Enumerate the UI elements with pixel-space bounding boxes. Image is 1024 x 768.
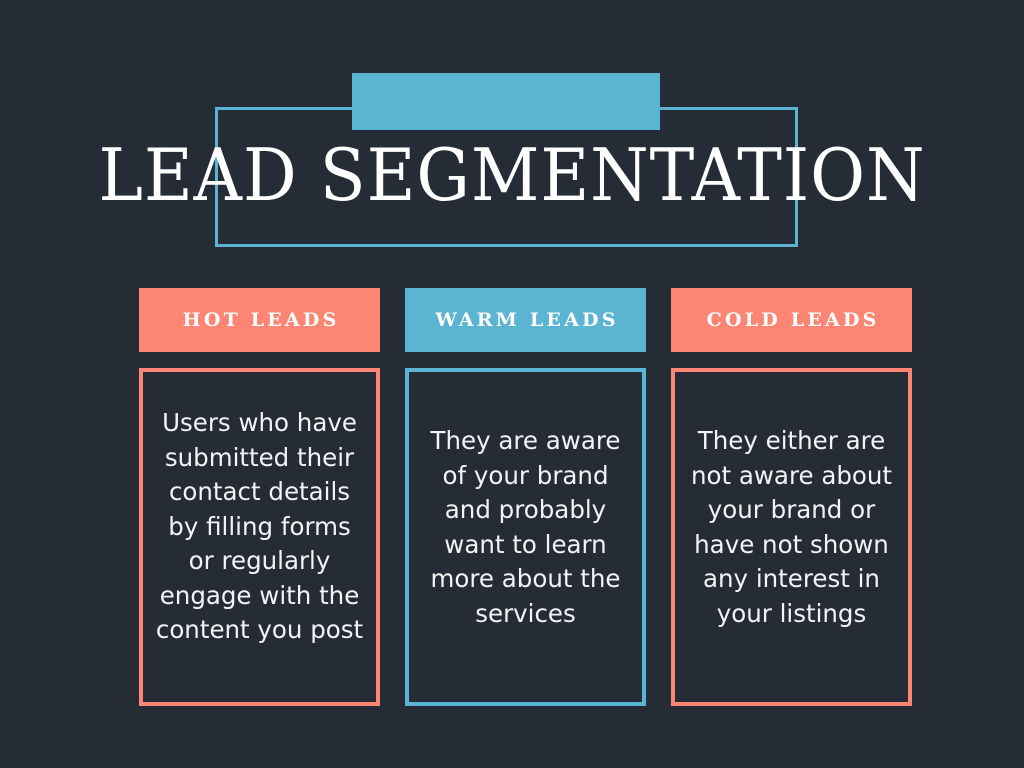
lead-column-body-hot: Users who have submitted their contact d… bbox=[139, 368, 380, 706]
lead-column-hot: HOT LEADS Users who have submitted their… bbox=[139, 288, 380, 706]
lead-column-header-cold: COLD LEADS bbox=[671, 288, 912, 352]
slide-canvas: LEAD SEGMENTATION HOT LEADS Users who ha… bbox=[0, 0, 1024, 768]
lead-column-description-hot: Users who have submitted their contact d… bbox=[155, 406, 364, 690]
lead-column-warm: WARM LEADS They are aware of your brand … bbox=[405, 288, 646, 706]
page-title: LEAD SEGMENTATION bbox=[36, 131, 988, 219]
lead-column-body-warm: They are aware of your brand and probabl… bbox=[405, 368, 646, 706]
lead-column-header-hot: HOT LEADS bbox=[139, 288, 380, 352]
lead-column-header-warm: WARM LEADS bbox=[405, 288, 646, 352]
lead-column-description-cold: They either are not aware about your bra… bbox=[687, 424, 896, 690]
lead-column-description-warm: They are aware of your brand and probabl… bbox=[421, 424, 630, 690]
lead-column-body-cold: They either are not aware about your bra… bbox=[671, 368, 912, 706]
title-block: LEAD SEGMENTATION bbox=[0, 0, 1024, 270]
lead-column-cold: COLD LEADS They either are not aware abo… bbox=[671, 288, 912, 706]
lead-segment-columns: HOT LEADS Users who have submitted their… bbox=[139, 288, 912, 706]
